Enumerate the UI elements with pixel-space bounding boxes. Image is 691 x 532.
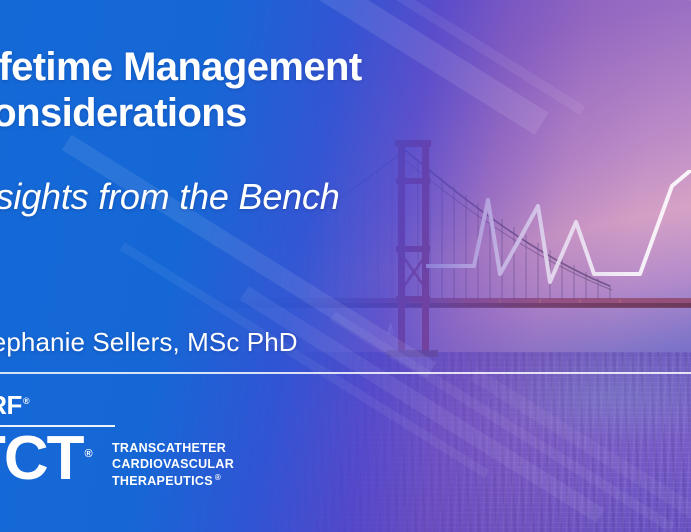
tct-logo: TCT® [0,428,91,490]
presentation-title-slide: Lifetime Management Considerations Insig… [0,0,691,532]
wordmark-line-3-text: THERAPEUTICS [112,474,213,488]
horizontal-divider [0,372,691,374]
slide-title-line-1: Lifetime Management [0,45,362,89]
crf-registered-mark: ® [23,396,29,406]
wordmark-registered-mark: ® [215,473,221,482]
speaker-name: Stephanie Sellers, MSc PhD [0,327,298,358]
tct-logo-lockup: CRF® TCT® TRANSCATHETER CARDIOVASCULAR T… [0,392,290,502]
wordmark-line-3: THERAPEUTICS® [112,473,234,489]
tct-registered-mark: ® [85,448,91,460]
slide-content: Lifetime Management Considerations Insig… [0,0,691,532]
wordmark-line-2: CARDIOVASCULAR [112,456,234,472]
tct-logo-wordmark: TRANSCATHETER CARDIOVASCULAR THERAPEUTIC… [112,440,234,489]
wordmark-line-1: TRANSCATHETER [112,440,234,456]
tct-logo-text: TCT [0,424,83,493]
slide-subtitle: Insights from the Bench [0,176,340,218]
crf-logo-text: CRF [0,390,22,420]
slide-title: Lifetime Management Considerations [0,44,524,137]
slide-title-line-2: Considerations [0,90,524,136]
crf-logo: CRF® [0,392,29,418]
